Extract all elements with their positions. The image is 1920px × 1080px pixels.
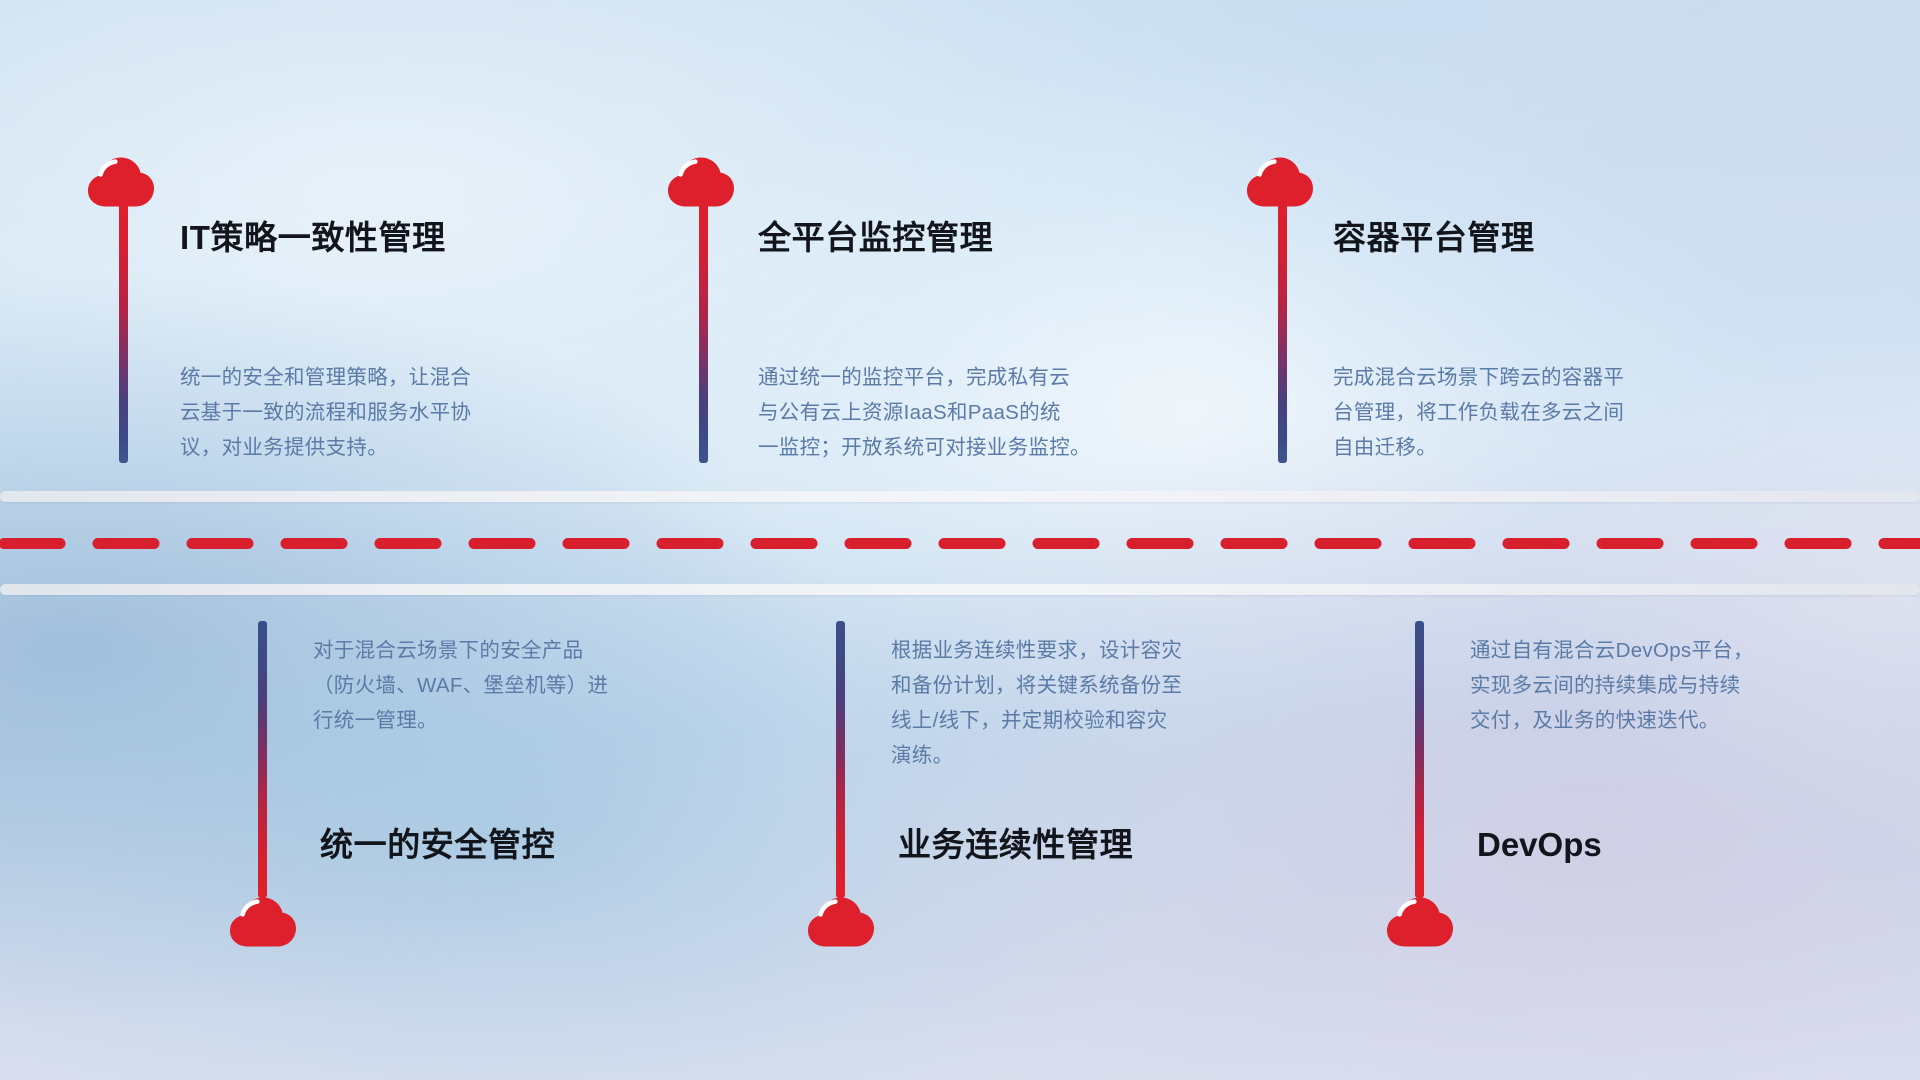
node-title: 容器平台管理 bbox=[1333, 220, 1535, 256]
cloud-icon bbox=[806, 896, 876, 948]
infographic-canvas: IT策略一致性管理 统一的安全和管理策略，让混合 云基于一致的流程和服务水平协 … bbox=[0, 0, 1920, 1080]
node-title: 统一的安全管控 bbox=[320, 827, 555, 863]
node-description: 通过自有混合云DevOps平台， 实现多云间的持续集成与持续 交付，及业务的快速… bbox=[1470, 633, 1900, 738]
node-description: 对于混合云场景下的安全产品 （防火墙、WAF、堡垒机等）进 行统一管理。 bbox=[313, 633, 743, 738]
node-description: 通过统一的监控平台，完成私有云 与公有云上资源IaaS和PaaS的统 一监控；开… bbox=[758, 360, 1188, 465]
divider-rail-bottom bbox=[0, 584, 1920, 595]
stem-connector bbox=[258, 621, 267, 898]
stem-connector bbox=[1415, 621, 1424, 898]
cloud-icon bbox=[228, 896, 298, 948]
node-title: 业务连续性管理 bbox=[898, 827, 1133, 863]
divider-dashed-centerline bbox=[0, 537, 1920, 550]
node-title: DevOps bbox=[1477, 827, 1602, 863]
node-description: 完成混合云场景下跨云的容器平 台管理，将工作负载在多云之间 自由迁移。 bbox=[1333, 360, 1763, 465]
divider-rail-top bbox=[0, 491, 1920, 502]
stem-connector bbox=[699, 198, 708, 463]
stem-connector bbox=[119, 198, 128, 463]
node-description: 根据业务连续性要求，设计容灾 和备份计划，将关键系统备份至 线上/线下，并定期校… bbox=[891, 633, 1321, 773]
node-description: 统一的安全和管理策略，让混合 云基于一致的流程和服务水平协 议，对业务提供支持。 bbox=[180, 360, 600, 465]
stem-connector bbox=[1278, 198, 1287, 463]
node-title: IT策略一致性管理 bbox=[180, 220, 446, 256]
node-title: 全平台监控管理 bbox=[758, 220, 993, 256]
stem-connector bbox=[836, 621, 845, 898]
cloud-icon bbox=[1385, 896, 1455, 948]
